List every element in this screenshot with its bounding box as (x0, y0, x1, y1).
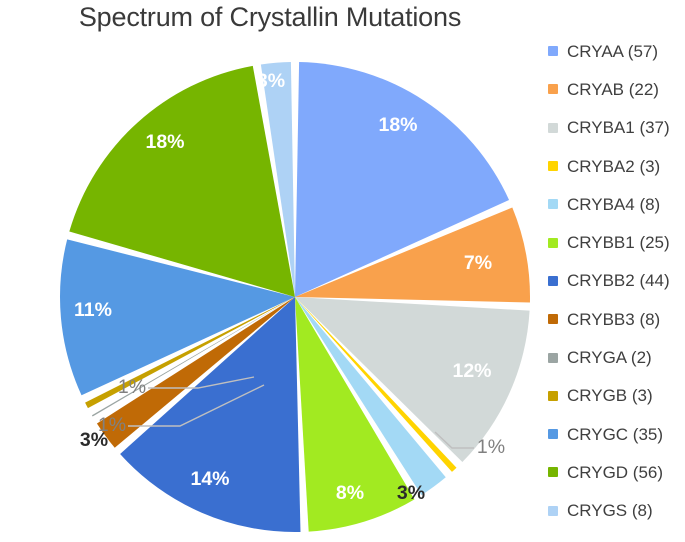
legend-item[interactable]: CRYBA4 (8) (548, 185, 685, 223)
slice-label-crybb1: 8% (336, 482, 364, 504)
legend-item[interactable]: CRYAA (57) (548, 32, 685, 70)
legend-item-label: CRYBA1 (37) (567, 119, 670, 136)
legend-item[interactable]: CRYBA1 (37) (548, 109, 685, 147)
slice-label-cryba2: 1% (477, 436, 505, 458)
pie-chart: 18% 7% 12% 1% 3% 8% 14% 3% 1% 1% 11% 18%… (0, 0, 540, 542)
legend-swatch-icon (548, 123, 558, 133)
legend-item[interactable]: CRYGA (2) (548, 338, 685, 376)
legend-item[interactable]: CRYBB2 (44) (548, 262, 685, 300)
legend-swatch-icon (548, 238, 558, 248)
legend-swatch-icon (548, 84, 558, 94)
legend-item[interactable]: CRYBA2 (3) (548, 147, 685, 185)
legend-item[interactable]: CRYGB (3) (548, 377, 685, 415)
slice-label-cryba1: 12% (452, 360, 491, 382)
legend-item-label: CRYBA2 (3) (567, 158, 660, 175)
legend-item-label: CRYGB (3) (567, 387, 653, 404)
legend-item-label: CRYAA (57) (567, 43, 658, 60)
pie-chart-svg: 18% 7% 12% 1% 3% 8% 14% 3% 1% 1% 11% 18%… (0, 0, 540, 542)
legend-item-label: CRYBB2 (44) (567, 272, 670, 289)
slice-label-cryga: 1% (98, 414, 126, 436)
legend-item[interactable]: CRYGD (56) (548, 453, 685, 491)
legend-item-label: CRYBB3 (8) (567, 311, 660, 328)
legend-item-label: CRYBA4 (8) (567, 196, 660, 213)
legend-swatch-icon (548, 46, 558, 56)
slice-label-crygd: 18% (145, 131, 184, 153)
legend-item[interactable]: CRYGS (8) (548, 492, 685, 530)
slice-label-crygs: 3% (257, 70, 285, 92)
legend-item-label: CRYGS (8) (567, 502, 653, 519)
legend-item-label: CRYBB1 (25) (567, 234, 670, 251)
slice-label-cryaa: 18% (378, 114, 417, 136)
legend-swatch-icon (548, 467, 558, 477)
legend-item[interactable]: CRYGC (35) (548, 415, 685, 453)
legend-item-label: CRYGA (2) (567, 349, 652, 366)
legend-item-label: CRYGD (56) (567, 464, 663, 481)
slice-label-crygc: 11% (74, 299, 112, 321)
legend-item[interactable]: CRYBB1 (25) (548, 223, 685, 261)
legend-swatch-icon (548, 429, 558, 439)
legend-item-label: CRYGC (35) (567, 426, 663, 443)
legend-swatch-icon (548, 199, 558, 209)
legend-swatch-icon (548, 161, 558, 171)
slice-label-crybb2: 14% (190, 468, 229, 490)
legend-swatch-icon (548, 276, 558, 286)
legend-swatch-icon (548, 506, 558, 516)
legend-item[interactable]: CRYBB3 (8) (548, 300, 685, 338)
pie-slices (60, 62, 530, 532)
slice-label-cryba4: 3% (397, 482, 425, 504)
legend-swatch-icon (548, 391, 558, 401)
legend-swatch-icon (548, 353, 558, 363)
slice-label-crygb: 1% (118, 376, 146, 398)
legend-swatch-icon (548, 314, 558, 324)
legend: CRYAA (57)CRYAB (22)CRYBA1 (37)CRYBA2 (3… (548, 32, 685, 530)
legend-item[interactable]: CRYAB (22) (548, 70, 685, 108)
slice-label-cryab: 7% (464, 252, 492, 274)
legend-item-label: CRYAB (22) (567, 81, 659, 98)
